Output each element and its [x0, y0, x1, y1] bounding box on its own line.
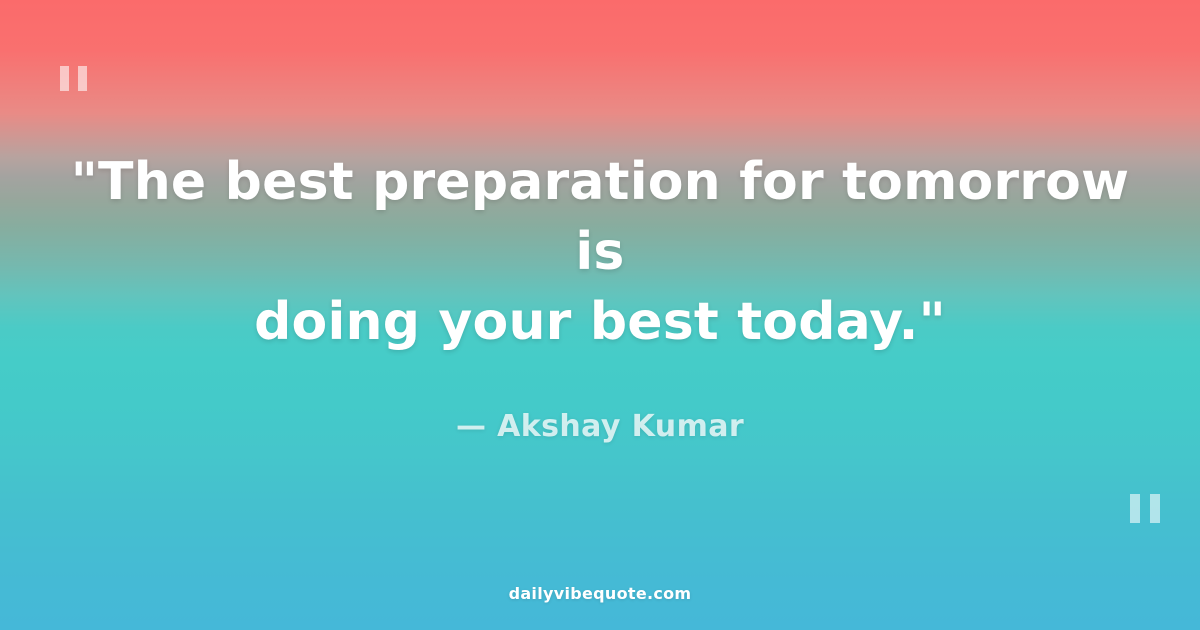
quote-text: "The best preparation for tomorrow is do… [70, 147, 1130, 357]
quote-card: "The best preparation for tomorrow is do… [0, 0, 1200, 630]
quote-attribution: — Akshay Kumar [456, 409, 744, 444]
site-watermark: dailyvibequote.com [0, 584, 1200, 603]
quote-line-2: doing your best today." [254, 292, 946, 352]
quote-line-1: "The best preparation for tomorrow is [71, 152, 1130, 282]
quote-content: "The best preparation for tomorrow is do… [0, 0, 1200, 630]
